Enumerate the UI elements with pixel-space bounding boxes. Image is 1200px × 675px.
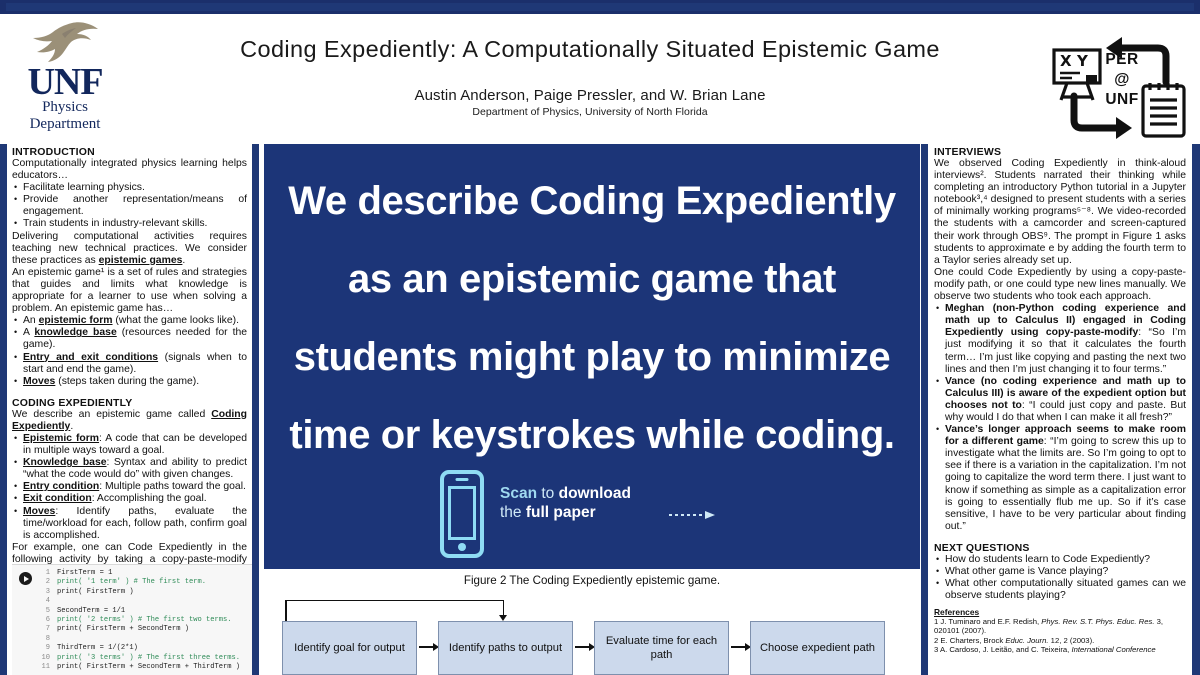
- list-item: What other computationally situated game…: [934, 578, 1186, 602]
- coding-expediently-heading: CODING EXPEDIENTLY: [12, 397, 247, 409]
- flow-step-4: Choose expedient path: [750, 621, 885, 675]
- poster-root: UNF Physics Department Coding Expedientl…: [0, 0, 1200, 675]
- per-line-1: PER: [1094, 50, 1150, 70]
- list-item: How do students learn to Code Expedientl…: [934, 554, 1186, 566]
- list-item: What other game is Vance playing?: [934, 566, 1186, 578]
- svg-text:X: X: [1060, 52, 1072, 70]
- line-number: 8: [36, 635, 50, 644]
- list-item: Meghan (non-Python coding experience and…: [934, 303, 1186, 376]
- code-text: print( FirstTerm + SecondTerm ): [57, 625, 189, 633]
- code-text: print( '2 terms' ) # The first two terms…: [57, 616, 232, 624]
- term-label: knowledge base: [34, 327, 116, 338]
- flow-connector-2: [575, 646, 590, 648]
- journal-name: Phys. Rev. S.T. Phys. Educ. Res.: [1041, 617, 1154, 626]
- line-number: 11: [36, 663, 50, 672]
- coding-expediently-lead: We describe an epistemic game called Cod…: [12, 409, 247, 433]
- line-number: 7: [36, 625, 50, 634]
- flow-connector-3: [731, 646, 746, 648]
- list-item: Vance (no coding experience and math up …: [934, 376, 1186, 424]
- text-fragment: : Accomplishing the goal.: [92, 493, 207, 504]
- phone-screen: [448, 486, 476, 540]
- code-text: FirstTerm = 1: [57, 569, 112, 577]
- term-label: Epistemic form: [23, 433, 99, 444]
- text-fragment: 1 J. Tuminaro and E.F. Redish,: [934, 617, 1041, 626]
- list-item: A knowledge base (resources needed for t…: [12, 327, 247, 351]
- arrow-head-right-icon: [1116, 117, 1132, 139]
- phone-speaker: [456, 478, 469, 481]
- text-fragment: full paper: [526, 504, 596, 521]
- code-lines: 1FirstTerm = 1 2print( '1 term' ) # The …: [36, 569, 259, 672]
- introduction-heading: INTRODUCTION: [12, 146, 247, 158]
- qr-callout: Scan to download the full paper: [264, 464, 920, 569]
- line-number: 3: [36, 588, 50, 597]
- interviews-paragraph-1: We observed Coding Expediently in think-…: [934, 158, 1186, 267]
- term-label: epistemic form: [39, 315, 113, 326]
- line-number: 5: [36, 607, 50, 616]
- left-column: INTRODUCTION Computationally integrated …: [0, 144, 259, 675]
- affiliation: Department of Physics, University of Nor…: [140, 106, 1040, 118]
- line-number: 10: [36, 654, 50, 663]
- term-label: Moves: [23, 376, 55, 387]
- game-parts-list: An epistemic form (what the game looks l…: [12, 315, 247, 388]
- code-text: print( '3 terms' ) # The first three ter…: [57, 654, 240, 662]
- code-line: 4: [36, 597, 259, 606]
- text-fragment: the: [500, 504, 526, 521]
- poster-body: INTRODUCTION Computationally integrated …: [0, 144, 1200, 675]
- headline-panel: We describe Coding Expediently as an epi…: [264, 144, 920, 569]
- figure-2-flowchart: Identify goal for output Identify paths …: [282, 596, 902, 675]
- text-fragment: We describe an epistemic game called: [12, 409, 211, 420]
- term-epistemic-games: epistemic games: [99, 255, 183, 266]
- text-fragment: An: [23, 315, 39, 326]
- journal-name: Educ. Journ.: [1005, 636, 1048, 645]
- term-label: Knowledge base: [23, 457, 107, 468]
- quote-text: : “I’m going to screw this up to investi…: [945, 436, 1186, 532]
- reference-item: 3 A. Cardoso, J. Leitão, and C. Teixeira…: [934, 645, 1186, 654]
- unf-dept-line2: Department: [30, 116, 101, 133]
- list-item: Train students in industry-relevant skil…: [12, 218, 247, 230]
- top-accent-bar-inner: [6, 3, 1194, 11]
- phone-home-button: [458, 543, 466, 551]
- introduction-paragraph-3: An epistemic game¹ is a set of rules and…: [12, 267, 247, 315]
- list-item: An epistemic form (what the game looks l…: [12, 315, 247, 327]
- code-line: 2print( '1 term' ) # The first term.: [36, 578, 259, 587]
- text-fragment: Scan: [500, 485, 537, 502]
- right-column: INTERVIEWS We observed Coding Expedientl…: [921, 144, 1200, 675]
- dotted-arrow-icon: [669, 511, 715, 519]
- interviews-paragraph-2: One could Code Expediently by using a co…: [934, 267, 1186, 303]
- unf-dept-line1: Physics: [42, 99, 88, 116]
- reference-item: 2 E. Charters, Brock Educ. Journ. 12, 2 …: [934, 636, 1186, 645]
- spacer: [934, 533, 1186, 542]
- per-unf-text: PER @ UNF: [1094, 50, 1150, 110]
- code-text: print( FirstTerm ): [57, 588, 134, 596]
- text-fragment: download: [559, 485, 631, 502]
- text-fragment: 12, 2 (2003).: [1049, 636, 1095, 645]
- text-fragment: .: [182, 255, 185, 266]
- references-heading: References: [934, 607, 1186, 617]
- code-line: 9ThirdTerm = 1/(2*1): [36, 644, 259, 653]
- coding-expediently-bullets: Epistemic form: A code that can be devel…: [12, 433, 247, 542]
- list-item: Provide another representation/means of …: [12, 194, 247, 218]
- author-list: Austin Anderson, Paige Pressler, and W. …: [140, 87, 1040, 104]
- text-fragment: 2 E. Charters, Brock: [934, 636, 1005, 645]
- list-item: Entry and exit conditions (signals when …: [12, 352, 247, 376]
- next-questions-heading: NEXT QUESTIONS: [934, 542, 1186, 554]
- introduction-lead: Computationally integrated physics learn…: [12, 158, 247, 182]
- code-line: 10print( '3 terms' ) # The first three t…: [36, 654, 259, 663]
- smartphone-icon: [440, 470, 484, 558]
- page-title: Coding Expediently: A Computationally Si…: [140, 36, 1040, 63]
- line-number: 1: [36, 569, 50, 578]
- spacer: [12, 388, 247, 397]
- text-fragment: to: [537, 485, 559, 502]
- list-item: Exit condition: Accomplishing the goal.: [12, 493, 247, 505]
- journal-name: International Conference: [1071, 645, 1155, 654]
- per-unf-logo: XY: [1048, 34, 1190, 142]
- scan-line-1: Scan to download: [500, 484, 710, 503]
- code-text: ThirdTerm = 1/(2*1): [57, 644, 138, 652]
- line-number: 9: [36, 644, 50, 653]
- top-accent-bar: [0, 0, 1200, 14]
- interview-quotes: Meghan (non-Python coding experience and…: [934, 303, 1186, 533]
- text-fragment: 3 A. Cardoso, J. Leitão, and C. Teixeira…: [934, 645, 1071, 654]
- term-label: Entry and exit conditions: [23, 352, 158, 363]
- text-fragment: .: [70, 421, 73, 432]
- code-line: 8: [36, 635, 259, 644]
- list-item: Moves (steps taken during the game).: [12, 376, 247, 388]
- code-line: 6print( '2 terms' ) # The first two term…: [36, 616, 259, 625]
- flow-step-2: Identify paths to output: [438, 621, 573, 675]
- interviews-heading: INTERVIEWS: [934, 146, 1186, 158]
- code-line: 5SecondTerm = 1/1: [36, 607, 259, 616]
- reference-item: 1 J. Tuminaro and E.F. Redish, Phys. Rev…: [934, 617, 1186, 635]
- poster-header: UNF Physics Department Coding Expedientl…: [0, 14, 1200, 144]
- code-line: 11print( FirstTerm + SecondTerm + ThirdT…: [36, 663, 259, 672]
- line-number: 6: [36, 616, 50, 625]
- text-fragment: A: [23, 327, 34, 338]
- text-fragment: (what the game looks like).: [113, 315, 239, 326]
- code-line: 3print( FirstTerm ): [36, 588, 259, 597]
- list-item: Epistemic form: A code that can be devel…: [12, 433, 247, 457]
- unf-wordmark: UNF: [27, 65, 102, 99]
- list-item: Knowledge base: Syntax and ability to pr…: [12, 457, 247, 481]
- notebook-code-figure: 1FirstTerm = 1 2print( '1 term' ) # The …: [12, 564, 259, 675]
- code-line: 1FirstTerm = 1: [36, 569, 259, 578]
- text-fragment: : Multiple paths toward the goal.: [99, 481, 246, 492]
- introduction-bullets: Facilitate learning physics. Provide ano…: [12, 182, 247, 230]
- feedback-loop-line: [286, 600, 504, 621]
- term-label: Moves: [23, 506, 55, 517]
- flow-step-1: Identify goal for output: [282, 621, 417, 675]
- code-text: print( FirstTerm + SecondTerm + ThirdTer…: [57, 663, 240, 671]
- center-column: We describe Coding Expediently as an epi…: [264, 144, 920, 675]
- text-fragment: (steps taken during the game).: [55, 376, 199, 387]
- code-text: print( '1 term' ) # The first term.: [57, 578, 206, 586]
- next-questions-list: How do students learn to Code Expedientl…: [934, 554, 1186, 602]
- term-label: Exit condition: [23, 493, 92, 504]
- unf-logo: UNF Physics Department: [10, 16, 120, 144]
- list-item: Entry condition: Multiple paths toward t…: [12, 481, 247, 493]
- per-line-3: UNF: [1094, 90, 1150, 110]
- line-number: 4: [36, 597, 50, 606]
- list-item: Facilitate learning physics.: [12, 182, 247, 194]
- svg-text:Y: Y: [1076, 52, 1089, 70]
- code-line: 7print( FirstTerm + SecondTerm ): [36, 625, 259, 634]
- run-cell-icon[interactable]: [19, 572, 32, 585]
- text-fragment: : Identify paths, evaluate the time/work…: [23, 506, 247, 541]
- line-number: 2: [36, 578, 50, 587]
- eagle-icon: [28, 20, 102, 64]
- introduction-paragraph-2: Delivering computational activities requ…: [12, 231, 247, 267]
- list-item: Vance’s longer approach seems to make ro…: [934, 424, 1186, 533]
- figure-2-caption: Figure 2 The Coding Expediently epistemi…: [264, 574, 920, 587]
- title-block: Coding Expediently: A Computationally Si…: [140, 14, 1040, 144]
- list-item: Moves: Identify paths, evaluate the time…: [12, 506, 247, 542]
- flow-step-3: Evaluate time for each path: [594, 621, 729, 675]
- flow-connector-1: [419, 646, 434, 648]
- per-line-2: @: [1094, 70, 1150, 90]
- term-label: Entry condition: [23, 481, 99, 492]
- code-text: SecondTerm = 1/1: [57, 607, 125, 615]
